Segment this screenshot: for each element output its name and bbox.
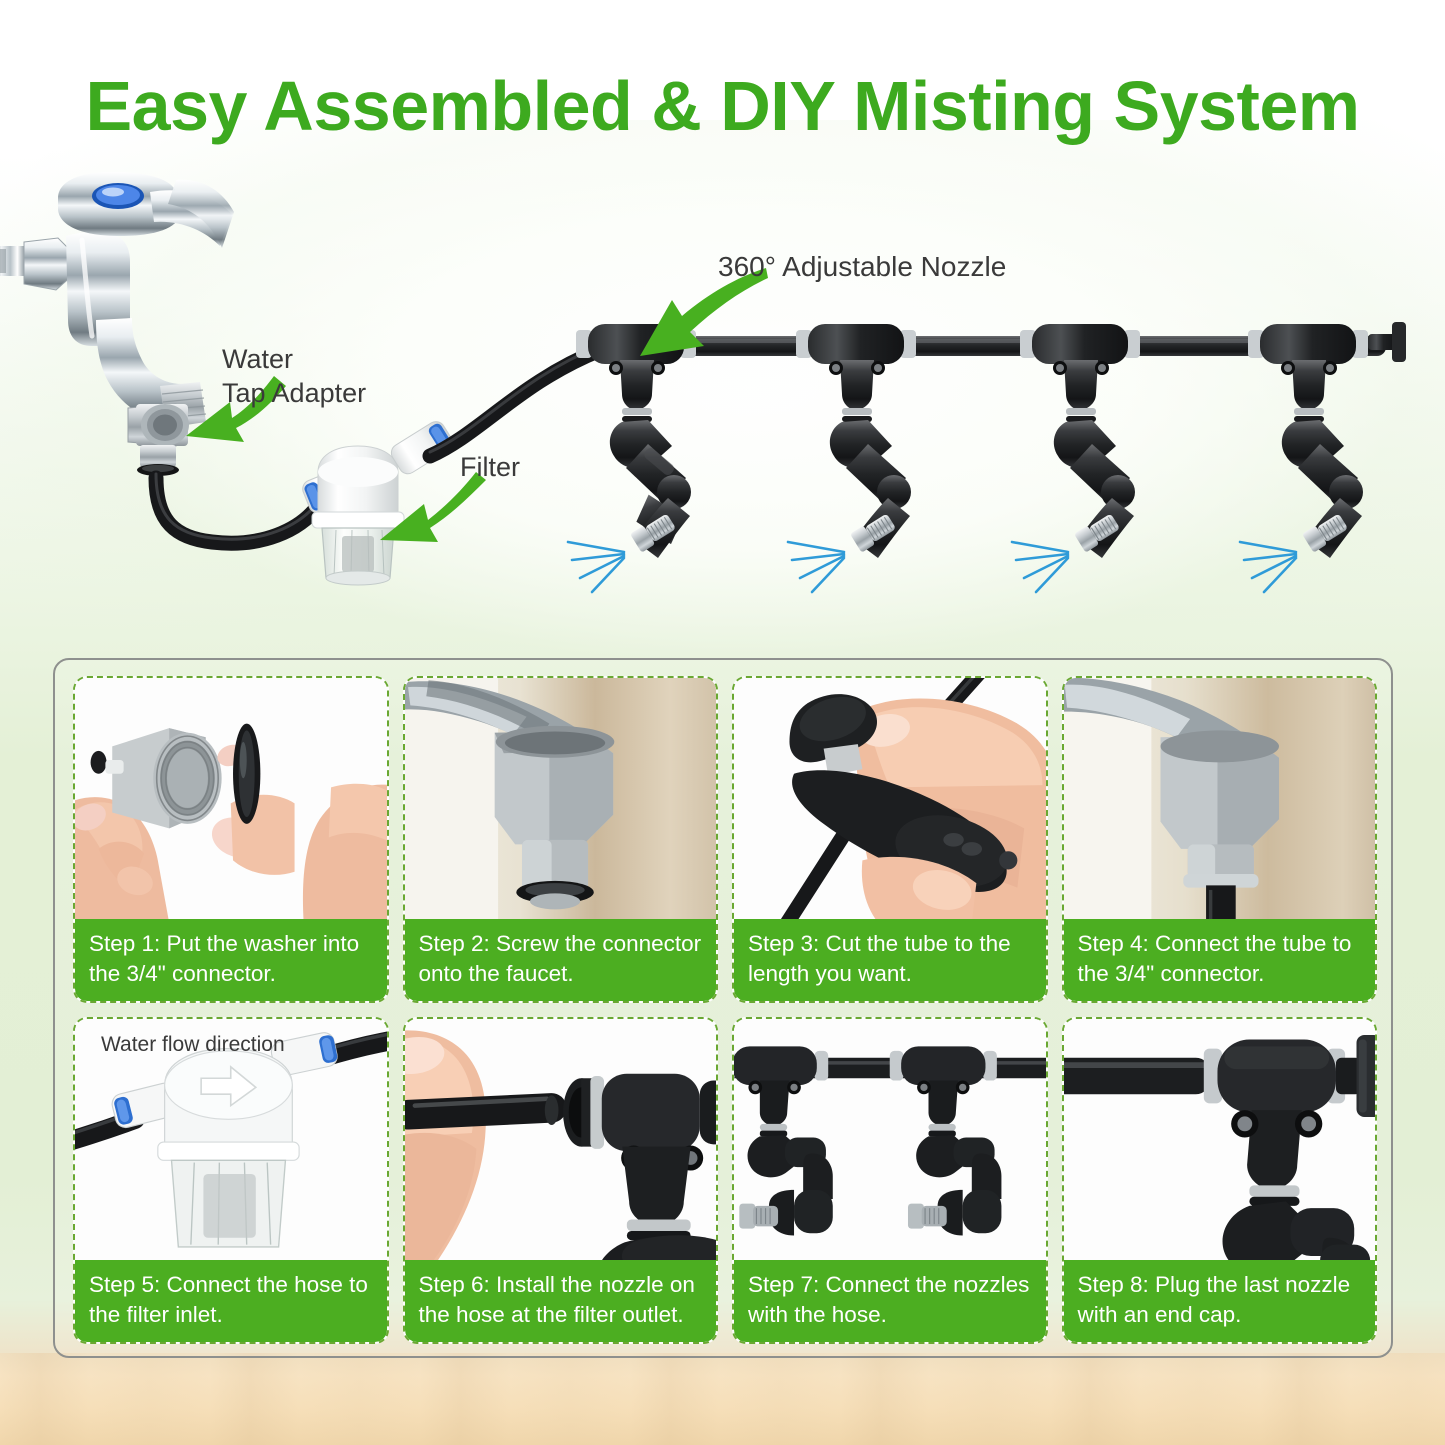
step-card-8: Step 8: Plug the last nozzle with an end…: [1062, 1017, 1378, 1344]
step-card-1: Step 1: Put the washer into the 3/4" con…: [73, 676, 389, 1003]
step-card-7: Step 7: Connect the nozzles with the hos…: [732, 1017, 1048, 1344]
nozzle-assembly-3: [1012, 324, 1140, 592]
step-caption-6: Step 6: Install the nozzle on the hose a…: [405, 1260, 717, 1342]
steps-grid: Step 1: Put the washer into the 3/4" con…: [55, 660, 1395, 1360]
steps-panel: Step 1: Put the washer into the 3/4" con…: [53, 658, 1393, 1358]
step-caption-5: Step 5: Connect the hose to the filter i…: [75, 1260, 387, 1342]
step-photo-2: [405, 678, 717, 923]
step-caption-7: Step 7: Connect the nozzles with the hos…: [734, 1260, 1046, 1342]
step-caption-1: Step 1: Put the washer into the 3/4" con…: [75, 919, 387, 1001]
step-caption-4: Step 4: Connect the tube to the 3/4" con…: [1064, 919, 1376, 1001]
step-caption-8: Step 8: Plug the last nozzle with an end…: [1064, 1260, 1376, 1342]
system-diagram: 360° Adjustable Nozzle Water Tap Adapter…: [0, 150, 1445, 650]
step-card-6: Step 6: Install the nozzle on the hose a…: [403, 1017, 719, 1344]
page-title: Easy Assembled & DIY Misting System: [0, 66, 1445, 146]
spray-lines: [788, 542, 844, 592]
spray-lines: [1240, 542, 1296, 592]
step-photo-7: [734, 1019, 1046, 1264]
step-photo-4: [1064, 678, 1376, 923]
step-photo-3: [734, 678, 1046, 923]
wood-surface: [0, 1353, 1445, 1445]
step-card-4: Step 4: Connect the tube to the 3/4" con…: [1062, 676, 1378, 1003]
spray-lines: [1012, 542, 1068, 592]
nozzle-assembly-1: [568, 324, 696, 592]
step-photo-8: [1064, 1019, 1376, 1264]
spray-lines: [568, 542, 624, 592]
label-filter: Filter: [460, 450, 520, 484]
nozzle-assembly-4: [1240, 322, 1406, 592]
step-caption-2: Step 2: Screw the connector onto the fau…: [405, 919, 717, 1001]
water-tap-adapter: [128, 404, 189, 476]
diagram-svg: [0, 150, 1445, 650]
nozzle-assembly-2: [788, 324, 916, 592]
faucet: [0, 172, 234, 428]
infographic-page: Easy Assembled & DIY Misting System: [0, 0, 1445, 1445]
step-card-5: Water flow direction Step 5: Connect the…: [73, 1017, 389, 1344]
label-adjustable-nozzle: 360° Adjustable Nozzle: [718, 250, 1006, 284]
step-caption-3: Step 3: Cut the tube to the length you w…: [734, 919, 1046, 1001]
step-card-3: Step 3: Cut the tube to the length you w…: [732, 676, 1048, 1003]
label-water-tap-adapter: Water Tap Adapter: [222, 342, 366, 410]
step-photo-1: [75, 678, 387, 923]
water-flow-direction-label: Water flow direction: [101, 1033, 285, 1057]
step-card-2: Step 2: Screw the connector onto the fau…: [403, 676, 719, 1003]
step-photo-6: [405, 1019, 717, 1264]
filter: [300, 418, 456, 585]
